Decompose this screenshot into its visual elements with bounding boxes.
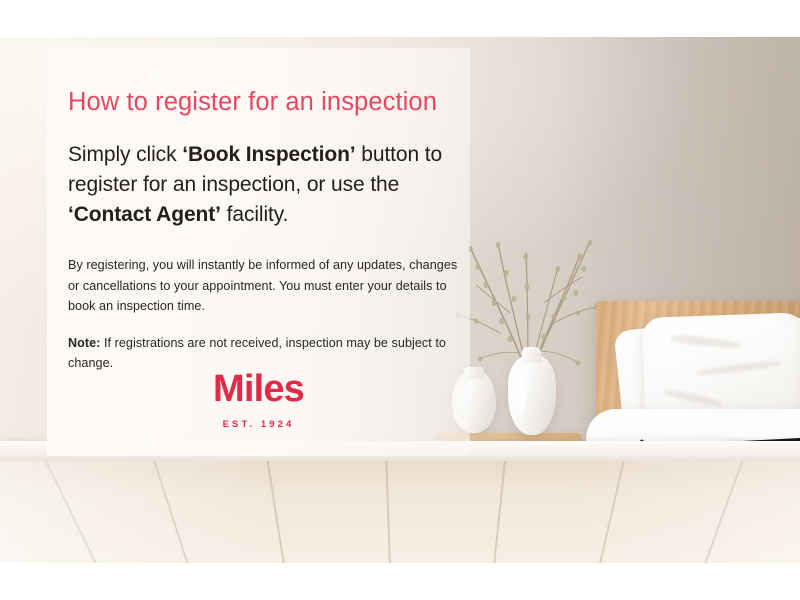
vase-tall bbox=[508, 355, 556, 435]
logo-wordmark: Miles bbox=[47, 370, 470, 408]
logo-established-text: EST. 1924 bbox=[47, 420, 470, 430]
lede-contact-agent: ‘Contact Agent’ bbox=[68, 203, 221, 226]
miles-logo: Miles EST. 1924 bbox=[47, 370, 470, 430]
vase-tall-neck bbox=[522, 347, 541, 363]
letterbox-bottom-band bbox=[0, 563, 800, 600]
overlay-content: How to register for an inspection Simply… bbox=[68, 88, 458, 373]
note-text: If registrations are not received, inspe… bbox=[68, 336, 446, 370]
lede-paragraph: Simply click ‘Book Inspection’ button to… bbox=[68, 140, 458, 230]
note-label: Note: bbox=[68, 336, 100, 350]
screenshot-stage: How to register for an inspection Simply… bbox=[0, 0, 800, 600]
wooden-floor bbox=[0, 461, 800, 563]
lede-part-1: Simply click bbox=[68, 143, 182, 166]
registration-info-paragraph: By registering, you will instantly be in… bbox=[68, 255, 458, 316]
letterbox-top-band bbox=[0, 0, 800, 37]
lede-part-3: facility. bbox=[221, 203, 288, 226]
lede-book-inspection: ‘Book Inspection’ bbox=[182, 143, 355, 166]
page-title: How to register for an inspection bbox=[68, 88, 458, 117]
info-overlay-panel: How to register for an inspection Simply… bbox=[47, 48, 470, 456]
